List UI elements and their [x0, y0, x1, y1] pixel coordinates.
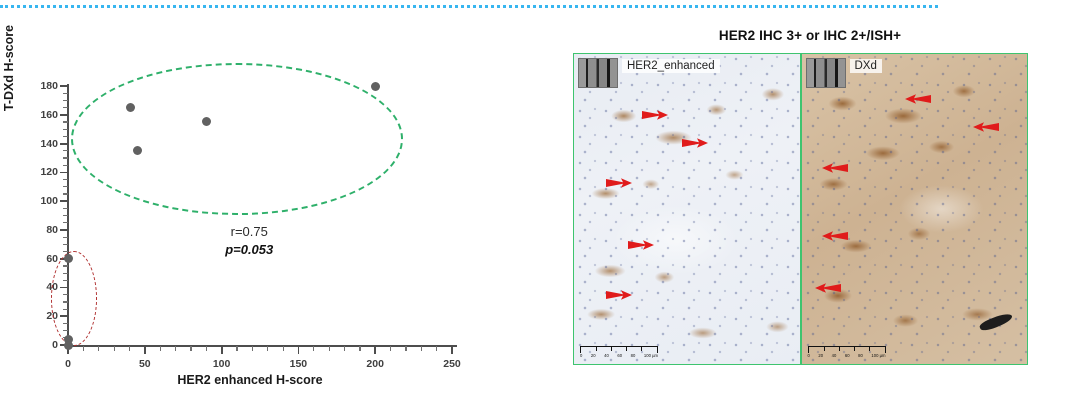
micrograph-dxd[interactable]: DXd 0 20: [801, 53, 1029, 365]
x-tick-major: [221, 346, 223, 354]
annotation-arrow-icon: [815, 283, 841, 292]
x-tick-major: [298, 346, 300, 354]
y-tick-minor: [63, 121, 68, 122]
y-tick-minor: [63, 157, 68, 158]
p-value-annotation: p=0.053: [179, 242, 319, 257]
scatter-chart-panel: T-DXd H-score 020406080100120140160180 0…: [0, 18, 540, 400]
scale-bar-labels: 0 20 40 60 80 100 µm: [580, 353, 658, 359]
y-tick-label: 180: [26, 80, 58, 92]
x-tick-major: [451, 346, 453, 354]
scale-tick-60: 60: [617, 353, 622, 359]
y-tick-label: 140: [26, 138, 58, 150]
x-tick-label: 200: [355, 358, 395, 370]
x-tick-minor: [390, 346, 391, 351]
y-tick-minor: [63, 179, 68, 180]
slide-thumbnail-icon: [578, 58, 618, 88]
x-tick-minor: [160, 346, 161, 351]
x-tick-major: [374, 346, 376, 354]
x-tick-minor: [206, 346, 207, 351]
scale-bar: 0 20 40 60 80 100 µm: [580, 346, 658, 359]
y-tick-label-text: 100: [30, 195, 58, 207]
plot-area: 020406080100120140160180 050100150200250…: [0, 18, 540, 400]
y-tick-minor: [63, 150, 68, 151]
x-tick-minor: [252, 346, 253, 351]
annotation-arrow-icon: [642, 110, 668, 119]
scale-tick-0: 0: [580, 353, 582, 359]
slide-thumbnail-icon: [806, 58, 846, 88]
x-tick-minor: [175, 346, 176, 351]
annotation-arrow-icon: [973, 122, 999, 131]
y-tick-major: [60, 200, 68, 202]
y-tick-minor: [63, 186, 68, 187]
x-tick-label: 100: [202, 358, 242, 370]
micrograph-label: DXd: [850, 59, 882, 73]
y-tick-label: 100: [26, 195, 58, 207]
x-tick-minor: [236, 346, 237, 351]
low-expression-group-ellipse: [51, 251, 97, 346]
y-tick-label: 120: [26, 166, 58, 178]
scatter-point: [64, 254, 73, 263]
micrograph-her2-enhanced[interactable]: HER2_enhanced 0 20: [573, 53, 801, 365]
y-tick-minor: [63, 165, 68, 166]
x-tick-minor: [283, 346, 284, 351]
correlation-annotation: r=0.75: [179, 224, 319, 239]
y-tick-minor: [63, 93, 68, 94]
y-tick-label-text: 140: [30, 138, 58, 150]
x-tick-label: 150: [278, 358, 318, 370]
y-tick-label-text: 60: [30, 253, 58, 265]
scale-bar-rule: [580, 346, 658, 353]
annotation-arrow-icon: [628, 240, 654, 249]
scatter-point: [371, 82, 380, 91]
annotation-arrow-icon: [822, 231, 848, 240]
y-tick-minor: [63, 107, 68, 108]
y-tick-minor: [63, 215, 68, 216]
x-tick-label: 250: [432, 358, 472, 370]
x-tick-minor: [98, 346, 99, 351]
y-tick-minor: [63, 222, 68, 223]
annotation-arrow-icon: [682, 138, 708, 147]
y-tick-label: 80: [26, 224, 58, 236]
y-tick-label-text: 80: [30, 224, 58, 236]
ihc-panel-title: HER2 IHC 3+ or IHC 2+/ISH+: [540, 28, 1080, 43]
x-tick-minor: [421, 346, 422, 351]
annotation-arrow-icon: [606, 178, 632, 187]
y-tick-label: 60: [26, 253, 58, 265]
y-tick-label-text: 160: [30, 109, 58, 121]
x-axis-title: HER2 enhanced H-score: [40, 373, 460, 387]
x-tick-minor: [129, 346, 130, 351]
scale-tick-60: 60: [845, 353, 850, 359]
scale-bar-rule: [808, 346, 886, 353]
y-tick-minor: [63, 237, 68, 238]
x-tick-minor: [405, 346, 406, 351]
y-tick-label: 0: [26, 339, 58, 351]
x-tick-minor: [344, 346, 345, 351]
scale-tick-40: 40: [832, 353, 837, 359]
y-tick-label: 160: [26, 109, 58, 121]
scale-tick-40: 40: [604, 353, 609, 359]
scatter-point: [133, 146, 142, 155]
x-tick-minor: [313, 346, 314, 351]
y-tick-major: [60, 229, 68, 231]
y-tick-label-text: 0: [30, 339, 58, 351]
annotation-arrow-icon: [822, 163, 848, 172]
x-tick-minor: [114, 346, 115, 351]
scale-tick-80: 80: [631, 353, 636, 359]
x-tick-minor: [267, 346, 268, 351]
scale-bar: 0 20 40 60 80 100 µm: [808, 346, 886, 359]
scale-tick-100: 100 µm: [644, 353, 658, 359]
y-tick-major: [60, 85, 68, 87]
scale-tick-100: 100 µm: [871, 353, 885, 359]
annotation-arrow-icon: [606, 290, 632, 299]
x-tick-label: 50: [125, 358, 165, 370]
x-tick-label: 0: [48, 358, 88, 370]
x-axis-line: [67, 345, 457, 347]
y-tick-major: [60, 114, 68, 116]
annotation-arrow-icon: [905, 94, 931, 103]
scale-bar-labels: 0 20 40 60 80 100 µm: [808, 353, 886, 359]
ihc-image-row: HER2_enhanced 0 20: [573, 53, 1028, 365]
y-tick-major: [60, 143, 68, 145]
scale-tick-0: 0: [808, 353, 810, 359]
x-tick-major: [144, 346, 146, 354]
nuclei-texture: [574, 54, 800, 364]
y-tick-label-text: 180: [30, 80, 58, 92]
y-tick-label-text: 120: [30, 166, 58, 178]
y-tick-minor: [63, 193, 68, 194]
x-tick-minor: [83, 346, 84, 351]
x-tick-minor: [190, 346, 191, 351]
high-expression-group-ellipse: [71, 63, 403, 216]
ihc-image-panel: HER2 IHC 3+ or IHC 2+/ISH+ HER2_enhanced: [540, 0, 1080, 400]
micrograph-label: HER2_enhanced: [622, 59, 720, 73]
x-tick-minor: [329, 346, 330, 351]
y-tick-minor: [63, 244, 68, 245]
y-tick-minor: [63, 136, 68, 137]
scale-tick-20: 20: [818, 353, 823, 359]
y-tick-minor: [63, 100, 68, 101]
x-tick-minor: [436, 346, 437, 351]
y-tick-major: [60, 172, 68, 174]
scale-tick-80: 80: [858, 353, 863, 359]
y-tick-minor: [63, 129, 68, 130]
x-tick-minor: [359, 346, 360, 351]
y-tick-minor: [63, 208, 68, 209]
scatter-point: [64, 341, 73, 350]
scale-tick-20: 20: [591, 353, 596, 359]
